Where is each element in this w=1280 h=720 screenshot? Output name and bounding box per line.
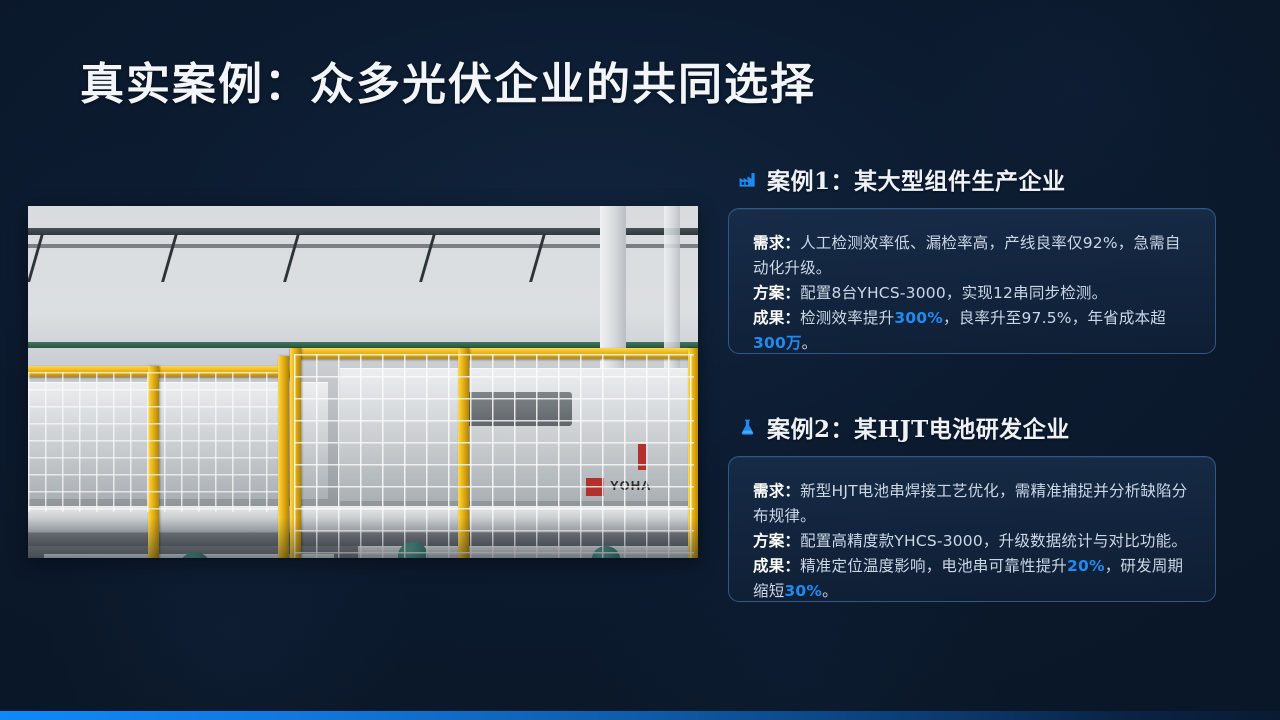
row-text: 配置高精度款YHCS-3000，升级数据统计与对比功能。 [800,532,1187,550]
ceiling-brace [161,234,178,282]
case-2-row-requirement: 需求：新型HJT电池串焊接工艺优化，需精准捕捉并分析缺陷分布规律。 [753,479,1191,529]
factory-photo-image: YOHA [28,206,698,558]
ceiling-brace [529,234,546,282]
slide-canvas: 真实案例：众多光伏企业的共同选择 YOHA [0,0,1280,720]
row-highlight: 30% [784,582,822,600]
case-1-heading-text: 案例1：某大型组件生产企业 [767,162,1066,196]
row-label: 需求： [753,234,800,252]
row-text: 。 [822,582,838,600]
flask-icon [736,416,758,438]
row-text: 。 [802,334,818,352]
photo-vignette [28,518,698,558]
row-label: 方案： [753,532,800,550]
case-block-1: 案例1：某大型组件生产企业 需求：人工检测效率低、漏检率高，产线良率仅92%，急… [728,162,1216,354]
bottom-accent-bar [0,711,1280,720]
row-text: ，良率升至97.5%，年省成本超 [943,309,1166,327]
row-text: 配置8台YHCS-3000，实现12串同步检测。 [800,284,1107,302]
page-title: 真实案例：众多光伏企业的共同选择 [80,48,816,112]
case-2-row-solution: 方案：配置高精度款YHCS-3000，升级数据统计与对比功能。 [753,529,1191,554]
ceiling-conduit [28,228,698,235]
case-1-card: 需求：人工检测效率低、漏检率高，产线良率仅92%，急需自动化升级。 方案：配置8… [728,208,1216,354]
case-2-card: 需求：新型HJT电池串焊接工艺优化，需精准捕捉并分析缺陷分布规律。 方案：配置高… [728,456,1216,602]
row-highlight: 300万 [753,334,802,352]
ceiling-conduit-secondary [28,244,698,248]
fence-mesh [28,372,278,512]
row-text: 人工检测效率低、漏检率高，产线良率仅92%，急需自动化升级。 [753,234,1181,277]
row-label: 需求： [753,482,800,500]
row-highlight: 300% [894,309,943,327]
row-label: 成果： [753,557,800,575]
case-block-2: 案例2：某HJT电池研发企业 需求：新型HJT电池串焊接工艺优化，需精准捕捉并分… [728,410,1216,602]
ceiling-brace [28,234,44,282]
row-text: 新型HJT电池串焊接工艺优化，需精准捕捉并分析缺陷分布规律。 [753,482,1188,525]
row-label: 成果： [753,309,800,327]
case-1-row-requirement: 需求：人工检测效率低、漏检率高，产线良率仅92%，急需自动化升级。 [753,231,1191,281]
case-1-heading: 案例1：某大型组件生产企业 [728,162,1216,196]
case-1-row-result: 成果：检测效率提升300%，良率升至97.5%，年省成本超300万。 [753,306,1191,356]
ceiling-brace [419,234,436,282]
row-text: 精准定位温度影响，电池串可靠性提升 [800,557,1067,575]
row-highlight: 20% [1067,557,1105,575]
ceiling-brace [283,234,300,282]
case-2-heading-text: 案例2：某HJT电池研发企业 [767,410,1070,444]
case-1-row-solution: 方案：配置8台YHCS-3000，实现12串同步检测。 [753,281,1191,306]
case-2-row-result: 成果：精准定位温度影响，电池串可靠性提升20%，研发周期缩短30%。 [753,554,1191,604]
row-text: 检测效率提升 [800,309,894,327]
case-2-heading: 案例2：某HJT电池研发企业 [728,410,1216,444]
factory-icon [736,168,758,190]
row-label: 方案： [753,284,800,302]
factory-photo: YOHA [28,206,698,558]
